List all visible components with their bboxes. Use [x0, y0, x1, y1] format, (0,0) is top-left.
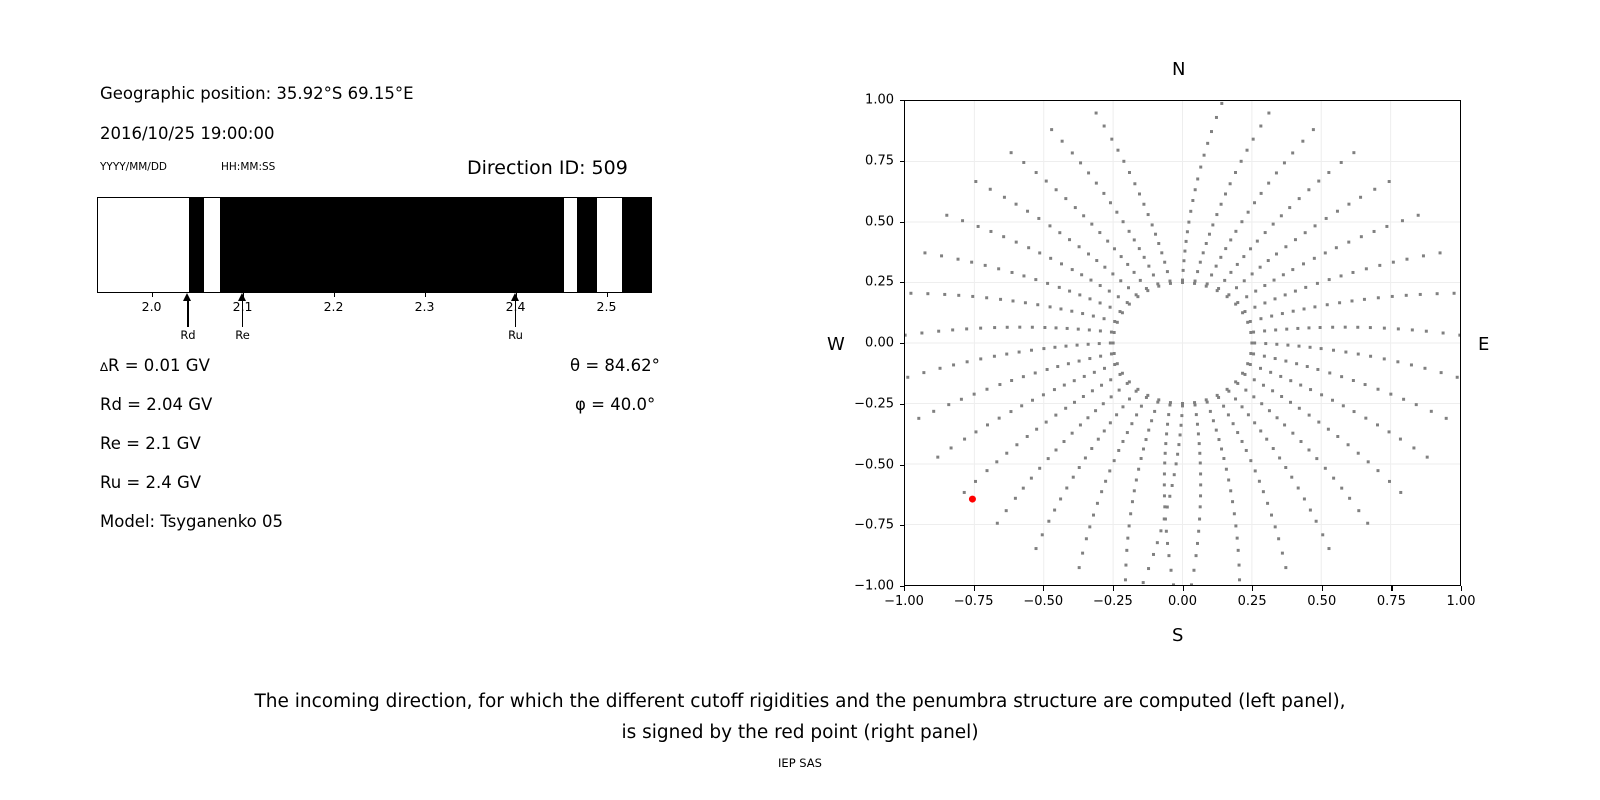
direction-point — [1090, 447, 1093, 450]
direction-point — [1100, 490, 1103, 493]
figure-caption: The incoming direction, for which the di… — [0, 686, 1600, 748]
direction-point — [940, 254, 943, 257]
direction-point — [1332, 349, 1335, 352]
direction-point — [926, 292, 929, 295]
direction-point — [999, 298, 1002, 301]
direction-point — [1087, 171, 1090, 174]
direction-point — [1109, 421, 1112, 424]
direction-point — [1115, 413, 1118, 416]
direction-point — [1324, 467, 1327, 470]
direction-point — [1259, 125, 1262, 128]
direction-point — [1113, 363, 1116, 366]
direction-point — [1126, 263, 1129, 266]
direction-point — [1110, 352, 1113, 355]
direction-point — [1396, 360, 1399, 363]
direction-point — [1266, 502, 1269, 505]
direction-point — [1411, 328, 1414, 331]
penumbra-band — [220, 198, 564, 292]
direction-point — [1320, 347, 1323, 350]
direction-point — [1088, 297, 1091, 300]
direction-point — [1034, 371, 1037, 374]
scatter-x-tick-label: 1.00 — [1447, 594, 1476, 609]
direction-point — [1138, 247, 1141, 250]
direction-point — [1046, 368, 1049, 371]
direction-point — [1234, 171, 1237, 174]
direction-point — [1273, 279, 1276, 282]
direction-point — [1104, 480, 1107, 483]
direction-point — [1035, 171, 1038, 174]
direction-point — [1197, 530, 1200, 533]
direction-point — [1328, 278, 1331, 281]
direction-point — [1351, 271, 1354, 274]
direction-point — [1304, 286, 1307, 289]
direction-point — [1359, 196, 1362, 199]
direction-point — [1172, 583, 1175, 585]
direction-point — [1378, 264, 1381, 267]
direction-point — [1113, 247, 1116, 250]
direction-point — [995, 460, 998, 463]
direction-point — [1253, 342, 1256, 345]
penumbra-structure-bar — [97, 197, 652, 293]
scatter-y-tick — [900, 282, 905, 283]
direction-point — [974, 430, 977, 433]
direction-point — [1030, 477, 1033, 480]
direction-point — [1083, 375, 1086, 378]
rigidity-marker-label-ru: Ru — [508, 328, 523, 342]
direction-point — [1284, 566, 1287, 569]
direction-point — [1151, 223, 1154, 226]
direction-point — [1035, 547, 1038, 550]
direction-point — [1100, 384, 1103, 387]
rigidity-marker-label-re: Re — [235, 328, 250, 342]
param-theta: θ = 84.62° — [570, 356, 660, 375]
scatter-x-tick — [1043, 586, 1044, 591]
direction-point — [979, 357, 982, 360]
direction-point — [1199, 462, 1202, 465]
direction-point — [1099, 301, 1102, 304]
direction-point — [1126, 301, 1129, 304]
direction-point — [1163, 483, 1166, 486]
direction-point — [1042, 347, 1045, 350]
direction-point — [1377, 296, 1380, 299]
direction-point — [1445, 417, 1448, 420]
direction-point — [1439, 251, 1442, 254]
direction-point — [920, 332, 923, 335]
scatter-x-tick-label: 0.50 — [1307, 594, 1336, 609]
direction-point — [1031, 326, 1034, 329]
direction-point — [1046, 282, 1049, 285]
direction-point — [1180, 424, 1183, 427]
direction-point — [1456, 376, 1459, 379]
direction-point — [1058, 286, 1061, 289]
penumbra-tick — [425, 292, 426, 297]
direction-point — [1170, 569, 1173, 572]
direction-point — [1109, 306, 1112, 309]
direction-point — [1009, 410, 1012, 413]
direction-point — [1209, 410, 1212, 413]
direction-point — [1279, 375, 1282, 378]
direction-point — [1320, 393, 1323, 396]
direction-point — [1045, 421, 1048, 424]
direction-point — [1005, 452, 1008, 455]
direction-point — [1277, 537, 1280, 540]
direction-point — [1168, 403, 1171, 406]
direction-point — [1436, 292, 1439, 295]
direction-point — [1059, 307, 1062, 310]
direction-point — [1321, 533, 1324, 536]
selected-direction-point[interactable] — [969, 496, 976, 503]
direction-point — [1227, 478, 1230, 481]
rigidity-marker-label-rd: Rd — [180, 328, 195, 342]
direction-point — [1103, 367, 1106, 370]
direction-point — [1034, 278, 1037, 281]
direction-point — [1049, 257, 1052, 260]
scatter-x-tick — [1183, 586, 1184, 591]
direction-point — [998, 417, 1001, 420]
direction-point — [1249, 320, 1252, 323]
direction-point — [1187, 221, 1190, 224]
direction-point — [1247, 211, 1250, 214]
direction-point — [1167, 554, 1170, 557]
direction-point — [1291, 151, 1294, 154]
direction-point — [1189, 210, 1192, 213]
direction-point — [1426, 456, 1429, 459]
direction-point — [1236, 431, 1239, 434]
direction-point — [1347, 241, 1350, 244]
direction-point — [951, 328, 954, 331]
direction-point — [1283, 161, 1286, 164]
direction-point — [1289, 401, 1292, 404]
direction-point — [1347, 203, 1350, 206]
direction-point — [1281, 312, 1284, 315]
direction-point — [1317, 180, 1320, 183]
direction-point — [1087, 252, 1090, 255]
param-rd: Rd = 2.04 GV — [100, 395, 212, 414]
direction-point — [1062, 440, 1065, 443]
direction-point — [1267, 112, 1270, 115]
direction-point — [1215, 213, 1218, 216]
direction-point — [1124, 578, 1127, 581]
direction-point — [1274, 328, 1277, 331]
direction-point — [1071, 432, 1074, 435]
direction-point — [1026, 210, 1029, 213]
direction-point — [1263, 329, 1266, 332]
direction-point — [1110, 331, 1113, 334]
direction-point — [1079, 161, 1082, 164]
direction-point — [1043, 326, 1046, 329]
direction-point — [1142, 447, 1145, 450]
direction-point — [1014, 497, 1017, 500]
direction-point — [1242, 255, 1245, 258]
direction-point — [1278, 456, 1281, 459]
penumbra-axis-line — [97, 292, 652, 293]
direction-point — [1076, 344, 1079, 347]
penumbra-tick-label: 2.3 — [415, 299, 435, 314]
direction-point — [998, 383, 1001, 386]
direction-point — [1251, 272, 1254, 275]
direction-point — [1128, 230, 1131, 233]
direction-point — [1331, 326, 1334, 329]
direction-point — [1357, 353, 1360, 356]
direction-point — [1225, 468, 1228, 471]
direction-point — [1336, 210, 1339, 213]
direction-point — [1109, 201, 1112, 204]
scatter-x-tick-label: −0.25 — [1093, 594, 1133, 609]
direction-point — [1383, 327, 1386, 330]
penumbra-band — [577, 198, 597, 292]
scatter-y-tick — [900, 222, 905, 223]
direction-point — [1347, 443, 1350, 446]
direction-point — [1139, 279, 1142, 282]
direction-point — [1234, 230, 1237, 233]
direction-point — [1253, 306, 1256, 309]
direction-point — [1035, 428, 1038, 431]
direction-point — [1015, 203, 1018, 206]
direction-point — [1077, 328, 1080, 331]
direction-point — [1152, 273, 1155, 276]
scatter-x-tick — [974, 586, 975, 591]
direction-point — [1055, 326, 1058, 329]
direction-point — [1088, 357, 1091, 360]
direction-point — [1010, 151, 1013, 154]
direction-point — [1099, 284, 1102, 287]
direction-point — [1064, 407, 1067, 410]
direction-point — [906, 376, 909, 379]
scatter-x-tick — [1252, 586, 1253, 591]
direction-point — [1219, 256, 1222, 259]
direction-point — [1307, 188, 1310, 191]
direction-point — [985, 388, 988, 391]
direction-point — [1070, 310, 1073, 313]
direction-point — [1389, 393, 1392, 396]
direction-point — [1309, 388, 1312, 391]
direction-point — [1215, 265, 1218, 268]
direction-point — [1206, 401, 1209, 404]
direction-point — [1096, 502, 1099, 505]
direction-point — [977, 225, 980, 228]
direction-point — [1180, 414, 1183, 417]
direction-point — [1185, 240, 1188, 243]
penumbra-tick-label: 2.0 — [142, 299, 162, 314]
direction-point — [1369, 355, 1372, 358]
direction-point — [1249, 247, 1252, 250]
direction-point — [1196, 270, 1199, 273]
direction-point — [1024, 301, 1027, 304]
direction-point — [1145, 396, 1148, 399]
direction-point — [1164, 518, 1167, 521]
direction-point — [1065, 487, 1068, 490]
direction-point — [1246, 362, 1249, 365]
scatter-y-tick — [900, 465, 905, 466]
direction-point — [1440, 371, 1443, 374]
direction-point — [1284, 293, 1287, 296]
direction-point — [989, 188, 992, 191]
direction-point — [1074, 206, 1077, 209]
scatter-x-tick-label: 0.75 — [1377, 594, 1406, 609]
direction-point — [1199, 472, 1202, 475]
direction-point — [1163, 462, 1166, 465]
direction-point — [939, 367, 942, 370]
direction-point — [1336, 435, 1339, 438]
direction-point — [1229, 271, 1232, 274]
direction-point — [1249, 352, 1252, 355]
direction-point — [1401, 219, 1404, 222]
direction-point — [1005, 353, 1008, 356]
direction-point — [1138, 192, 1141, 195]
direction-point — [1227, 293, 1230, 296]
direction-point — [923, 251, 926, 254]
direction-point — [1084, 456, 1087, 459]
direction-point — [1294, 290, 1297, 293]
direction-point — [1115, 211, 1118, 214]
direction-point — [1137, 468, 1140, 471]
direction-point — [1284, 466, 1287, 469]
scatter-y-tick-label: −0.75 — [836, 518, 894, 533]
penumbra-tick — [152, 292, 153, 297]
direction-point — [1045, 180, 1048, 183]
direction-point — [1179, 433, 1182, 436]
direction-point — [1252, 352, 1255, 355]
direction-point — [1275, 171, 1278, 174]
direction-point — [1238, 578, 1241, 581]
direction-point — [1289, 379, 1292, 382]
direction-point — [1210, 273, 1213, 276]
direction-point — [970, 261, 973, 264]
direction-point — [1167, 413, 1170, 416]
direction-point — [1286, 344, 1289, 347]
direction-point — [1350, 299, 1353, 302]
direction-point — [986, 469, 989, 472]
cardinal-north-label: N — [1172, 59, 1185, 80]
direction-point — [1195, 413, 1198, 416]
direction-point — [1208, 233, 1211, 236]
direction-point — [1220, 447, 1223, 450]
direction-point — [936, 456, 939, 459]
scatter-x-tick — [1113, 586, 1114, 591]
direction-point — [1109, 342, 1112, 345]
direction-point — [1154, 233, 1157, 236]
direction-point — [937, 330, 940, 333]
direction-point — [1252, 395, 1255, 398]
direction-point — [1117, 295, 1120, 298]
date-format-hint: YYYY/MM/DD — [100, 161, 167, 173]
direction-point — [1121, 440, 1124, 443]
direction-point — [1315, 520, 1318, 523]
direction-point — [1243, 310, 1246, 313]
scatter-y-tick — [900, 161, 905, 162]
direction-point — [1143, 256, 1146, 259]
direction-point — [993, 355, 996, 358]
direction-point — [1186, 230, 1189, 233]
direction-point — [1125, 549, 1128, 552]
direction-point — [1196, 423, 1199, 426]
direction-point — [1068, 290, 1071, 293]
direction-point — [997, 267, 1000, 270]
scatter-x-tick-label: −0.75 — [954, 594, 994, 609]
direction-point — [1173, 473, 1176, 476]
direction-point — [1091, 389, 1094, 392]
direction-point — [1222, 457, 1225, 460]
direction-point — [1122, 220, 1125, 223]
direction-point — [1245, 449, 1248, 452]
direction-point — [1275, 252, 1278, 255]
direction-point — [1087, 343, 1090, 346]
direction-point — [1388, 430, 1391, 433]
direction-point — [1135, 293, 1138, 296]
direction-point — [1240, 160, 1243, 163]
direction-point — [1071, 151, 1074, 154]
scatter-y-tick-label: 0.00 — [836, 336, 894, 351]
direction-point — [1263, 301, 1266, 304]
direction-point — [1240, 220, 1243, 223]
direction-point — [1038, 467, 1041, 470]
direction-point — [1254, 469, 1257, 472]
direction-point — [1078, 566, 1081, 569]
direction-point — [1129, 512, 1132, 515]
direction-point — [1145, 287, 1148, 290]
direction-point — [1022, 274, 1025, 277]
direction-point — [1093, 371, 1096, 374]
direction-point — [1303, 307, 1306, 310]
direction-point — [1108, 469, 1111, 472]
direction-point — [1282, 273, 1285, 276]
direction-point — [1064, 197, 1067, 200]
direction-point — [1038, 251, 1041, 254]
direction-point — [1103, 429, 1106, 432]
penumbra-tick-label: 2.5 — [597, 299, 617, 314]
direction-point — [1082, 214, 1085, 217]
direction-point — [1243, 373, 1246, 376]
direction-point — [1113, 331, 1116, 334]
direction-point — [1145, 438, 1148, 441]
direction-point — [1015, 443, 1018, 446]
direction-point — [922, 371, 925, 374]
direction-point — [1241, 405, 1244, 408]
direction-point — [1385, 225, 1388, 228]
direction-point — [1131, 500, 1134, 503]
direction-point — [966, 360, 969, 363]
direction-point — [1299, 384, 1302, 387]
direction-point — [1116, 362, 1119, 365]
direction-point — [1026, 435, 1029, 438]
direction-point — [1259, 266, 1262, 269]
penumbra-band — [189, 198, 204, 292]
scatter-y-tick — [900, 525, 905, 526]
direction-point — [1301, 140, 1304, 143]
direction-point — [1280, 214, 1283, 217]
direction-point — [1166, 542, 1169, 545]
direction-point — [1412, 446, 1415, 449]
direction-point — [1275, 343, 1278, 346]
direction-point — [1388, 180, 1391, 183]
direction-point — [1376, 469, 1379, 472]
direction-point — [1357, 509, 1360, 512]
penumbra-tick-label: 2.2 — [324, 299, 344, 314]
geographic-position-text: Geographic position: 35.92°S 69.15°E — [100, 84, 414, 103]
direction-point — [1119, 310, 1122, 313]
footer-credit: IEP SAS — [0, 756, 1600, 770]
direction-point — [1263, 355, 1266, 358]
direction-point — [1199, 483, 1202, 486]
direction-point — [1005, 509, 1008, 512]
direction-point — [1352, 151, 1355, 154]
direction-point — [1259, 367, 1262, 370]
direction-point — [1399, 438, 1402, 441]
scatter-x-tick — [1322, 586, 1323, 591]
direction-point — [1281, 552, 1284, 555]
direction-point — [1053, 509, 1056, 512]
direction-point — [1128, 171, 1131, 174]
